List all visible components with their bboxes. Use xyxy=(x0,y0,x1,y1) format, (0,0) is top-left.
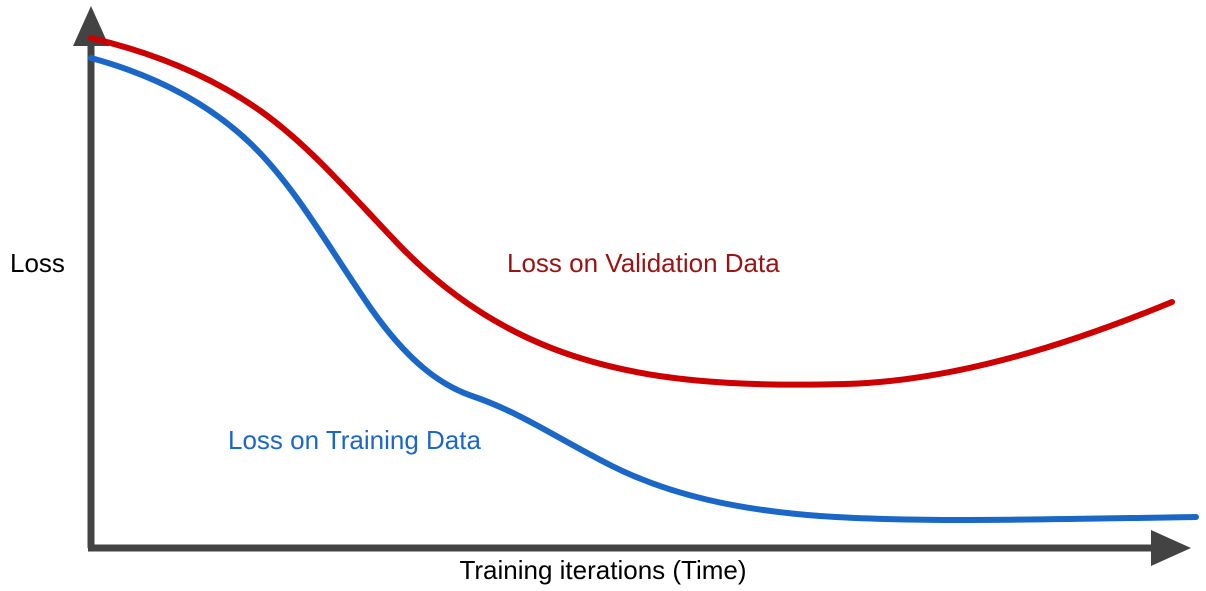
validation-loss-curve xyxy=(91,38,1172,385)
loss-curves-chart: Loss Training iterations (Time) Loss on … xyxy=(0,0,1206,591)
chart-plot-area xyxy=(0,0,1206,591)
x-axis-label: Training iterations (Time) xyxy=(0,557,1206,583)
validation-series-label: Loss on Validation Data xyxy=(507,250,780,276)
y-axis-label: Loss xyxy=(10,250,65,276)
training-series-label: Loss on Training Data xyxy=(228,427,481,453)
